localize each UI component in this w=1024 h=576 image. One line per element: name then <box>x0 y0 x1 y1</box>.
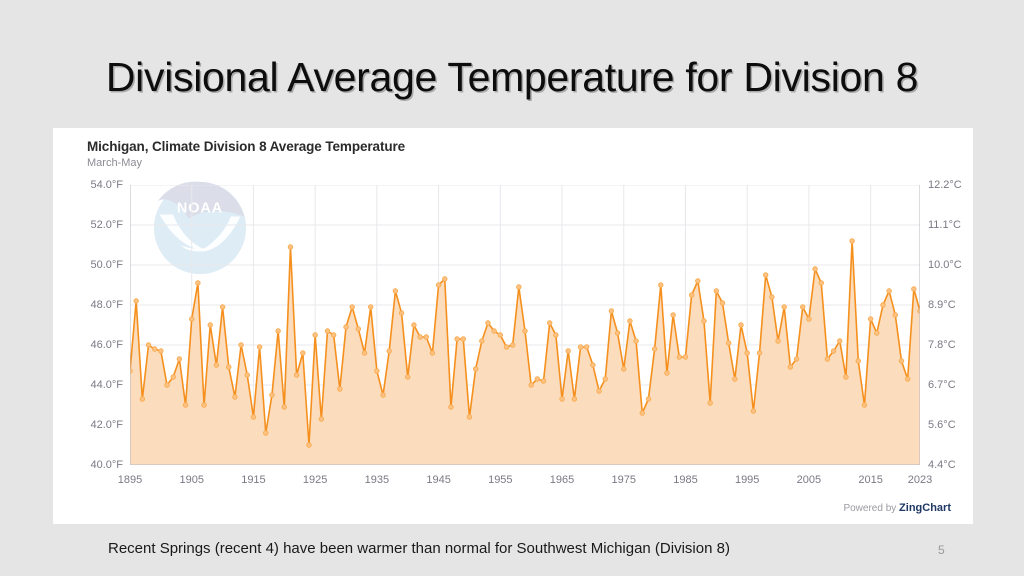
data-point[interactable] <box>794 357 799 362</box>
data-point[interactable] <box>146 343 151 348</box>
data-point[interactable] <box>658 283 663 288</box>
data-point[interactable] <box>566 349 571 354</box>
data-point[interactable] <box>220 305 225 310</box>
y-axis-left-tick: 46.0°F <box>90 339 123 351</box>
data-point[interactable] <box>424 335 429 340</box>
temperature-area-chart <box>130 185 920 465</box>
data-point[interactable] <box>572 397 577 402</box>
data-point[interactable] <box>665 371 670 376</box>
data-point[interactable] <box>868 317 873 322</box>
data-point[interactable] <box>912 287 917 292</box>
chart-panel: Michigan, Climate Division 8 Average Tem… <box>53 128 973 524</box>
chart-title: Michigan, Climate Division 8 Average Tem… <box>87 139 405 154</box>
data-point[interactable] <box>757 351 762 356</box>
data-point[interactable] <box>881 303 886 308</box>
data-point[interactable] <box>862 403 867 408</box>
x-axis-tick: 1985 <box>673 474 697 486</box>
data-point[interactable] <box>510 343 515 348</box>
data-point[interactable] <box>708 401 713 406</box>
data-point[interactable] <box>344 325 349 330</box>
data-point[interactable] <box>387 349 392 354</box>
data-point[interactable] <box>251 415 256 420</box>
data-point[interactable] <box>535 377 540 382</box>
data-point[interactable] <box>788 365 793 370</box>
data-point[interactable] <box>640 411 645 416</box>
x-axis-tick: 1935 <box>365 474 389 486</box>
data-point[interactable] <box>325 329 330 334</box>
data-point[interactable] <box>171 375 176 380</box>
data-point[interactable] <box>899 359 904 364</box>
data-point[interactable] <box>689 293 694 298</box>
data-point[interactable] <box>467 415 472 420</box>
data-point[interactable] <box>652 347 657 352</box>
data-point[interactable] <box>560 397 565 402</box>
x-axis-tick: 1945 <box>426 474 450 486</box>
data-point[interactable] <box>208 323 213 328</box>
data-point[interactable] <box>239 343 244 348</box>
data-point[interactable] <box>473 367 478 372</box>
data-point[interactable] <box>313 333 318 338</box>
data-point[interactable] <box>356 327 361 332</box>
data-point[interactable] <box>189 317 194 322</box>
data-point[interactable] <box>183 403 188 408</box>
data-point[interactable] <box>418 335 423 340</box>
data-point[interactable] <box>763 273 768 278</box>
data-point[interactable] <box>714 289 719 294</box>
data-point[interactable] <box>214 363 219 368</box>
data-point[interactable] <box>609 309 614 314</box>
data-point[interactable] <box>844 375 849 380</box>
x-axis-tick: 2023 <box>908 474 932 486</box>
data-point[interactable] <box>671 313 676 318</box>
y-axis-left-tick: 42.0°F <box>90 419 123 431</box>
page-title: Divisional Average Temperature for Divis… <box>0 54 1024 101</box>
data-point[interactable] <box>628 319 633 324</box>
credit-prefix: Powered by <box>843 503 899 514</box>
x-axis-tick: 1955 <box>488 474 512 486</box>
y-axis-right-tick: 7.8°C <box>928 339 956 351</box>
data-point[interactable] <box>270 393 275 398</box>
data-point[interactable] <box>368 305 373 310</box>
series-area-fill <box>130 241 920 465</box>
data-point[interactable] <box>541 379 546 384</box>
data-point[interactable] <box>720 301 725 306</box>
data-point[interactable] <box>603 377 608 382</box>
data-point[interactable] <box>331 333 336 338</box>
zingchart-credit: Powered by ZingChart <box>843 502 951 514</box>
plot-wrap: NOAA 40.0°F42.0°F44.0°F46.0°F48.0°F50.0°… <box>130 185 920 465</box>
data-point[interactable] <box>893 313 898 318</box>
data-point[interactable] <box>726 341 731 346</box>
data-point[interactable] <box>245 373 250 378</box>
data-point[interactable] <box>646 397 651 402</box>
data-point[interactable] <box>856 359 861 364</box>
data-point[interactable] <box>634 339 639 344</box>
data-point[interactable] <box>412 323 417 328</box>
data-point[interactable] <box>405 375 410 380</box>
data-point[interactable] <box>776 339 781 344</box>
x-axis-tick: 1975 <box>612 474 636 486</box>
data-point[interactable] <box>263 431 268 436</box>
data-point[interactable] <box>257 345 262 350</box>
data-point[interactable] <box>875 331 880 336</box>
data-point[interactable] <box>294 373 299 378</box>
x-axis-tick: 2005 <box>797 474 821 486</box>
data-point[interactable] <box>677 355 682 360</box>
y-axis-left-tick: 52.0°F <box>90 219 123 231</box>
data-point[interactable] <box>597 389 602 394</box>
chart-subtitle: March-May <box>87 157 142 169</box>
slide-number: 5 <box>938 543 945 557</box>
y-axis-right-tick: 4.4°C <box>928 459 956 471</box>
data-point[interactable] <box>134 299 139 304</box>
x-axis-tick: 1925 <box>303 474 327 486</box>
data-point[interactable] <box>813 267 818 272</box>
data-point[interactable] <box>233 395 238 400</box>
data-point[interactable] <box>362 351 367 356</box>
data-point[interactable] <box>461 337 466 342</box>
data-point[interactable] <box>319 417 324 422</box>
data-point[interactable] <box>504 345 509 350</box>
data-point[interactable] <box>905 377 910 382</box>
x-axis-tick: 1905 <box>179 474 203 486</box>
data-point[interactable] <box>282 405 287 410</box>
x-axis-tick: 1915 <box>241 474 265 486</box>
data-point[interactable] <box>165 383 170 388</box>
data-point[interactable] <box>455 337 460 342</box>
credit-brand: ZingChart <box>899 502 951 514</box>
data-point[interactable] <box>578 345 583 350</box>
data-point[interactable] <box>517 285 522 290</box>
data-point[interactable] <box>486 321 491 326</box>
data-point[interactable] <box>831 349 836 354</box>
data-point[interactable] <box>837 339 842 344</box>
y-axis-left-tick: 40.0°F <box>90 459 123 471</box>
data-point[interactable] <box>276 329 281 334</box>
x-axis-tick: 1995 <box>735 474 759 486</box>
data-point[interactable] <box>584 345 589 350</box>
data-point[interactable] <box>152 347 157 352</box>
data-point[interactable] <box>825 357 830 362</box>
data-point[interactable] <box>393 289 398 294</box>
y-axis-right-tick: 5.6°C <box>928 419 956 431</box>
data-point[interactable] <box>621 367 626 372</box>
data-point[interactable] <box>751 409 756 414</box>
data-point[interactable] <box>745 351 750 356</box>
x-axis-tick: 1965 <box>550 474 574 486</box>
data-point[interactable] <box>338 387 343 392</box>
data-point[interactable] <box>177 357 182 362</box>
data-point[interactable] <box>850 239 855 244</box>
data-point[interactable] <box>696 279 701 284</box>
data-point[interactable] <box>702 319 707 324</box>
data-point[interactable] <box>591 363 596 368</box>
data-point[interactable] <box>375 369 380 374</box>
data-point[interactable] <box>202 403 207 408</box>
data-point[interactable] <box>498 333 503 338</box>
data-point[interactable] <box>733 377 738 382</box>
data-point[interactable] <box>449 405 454 410</box>
data-point[interactable] <box>819 281 824 286</box>
data-point[interactable] <box>683 355 688 360</box>
data-point[interactable] <box>492 329 497 334</box>
data-point[interactable] <box>782 305 787 310</box>
data-point[interactable] <box>800 305 805 310</box>
data-point[interactable] <box>350 305 355 310</box>
y-axis-left-tick: 50.0°F <box>90 259 123 271</box>
y-axis-left-tick: 44.0°F <box>90 379 123 391</box>
data-point[interactable] <box>887 289 892 294</box>
data-point[interactable] <box>159 349 164 354</box>
data-point[interactable] <box>436 283 441 288</box>
data-point[interactable] <box>430 351 435 356</box>
data-point[interactable] <box>301 351 306 356</box>
slide-caption: Recent Springs (recent 4) have been warm… <box>108 540 730 557</box>
data-point[interactable] <box>807 317 812 322</box>
y-axis-right-tick: 8.9°C <box>928 299 956 311</box>
y-axis-right-tick: 10.0°C <box>928 259 962 271</box>
data-point[interactable] <box>399 311 404 316</box>
y-axis-right-tick: 6.7°C <box>928 379 956 391</box>
data-point[interactable] <box>442 277 447 282</box>
data-point[interactable] <box>288 245 293 250</box>
data-point[interactable] <box>529 383 534 388</box>
data-point[interactable] <box>140 397 145 402</box>
x-axis-tick: 1895 <box>118 474 142 486</box>
plot-area <box>130 185 920 465</box>
y-axis-left-tick: 54.0°F <box>90 179 123 191</box>
y-axis-right-tick: 12.2°C <box>928 179 962 191</box>
data-point[interactable] <box>523 329 528 334</box>
x-axis-tick: 2015 <box>858 474 882 486</box>
data-point[interactable] <box>554 333 559 338</box>
data-point[interactable] <box>739 323 744 328</box>
data-point[interactable] <box>307 443 312 448</box>
data-point[interactable] <box>381 393 386 398</box>
data-point[interactable] <box>615 331 620 336</box>
data-point[interactable] <box>480 339 485 344</box>
data-point[interactable] <box>547 321 552 326</box>
data-point[interactable] <box>226 365 231 370</box>
y-axis-left-tick: 48.0°F <box>90 299 123 311</box>
y-axis-right-tick: 11.1°C <box>928 219 961 231</box>
data-point[interactable] <box>196 281 201 286</box>
data-point[interactable] <box>770 295 775 300</box>
